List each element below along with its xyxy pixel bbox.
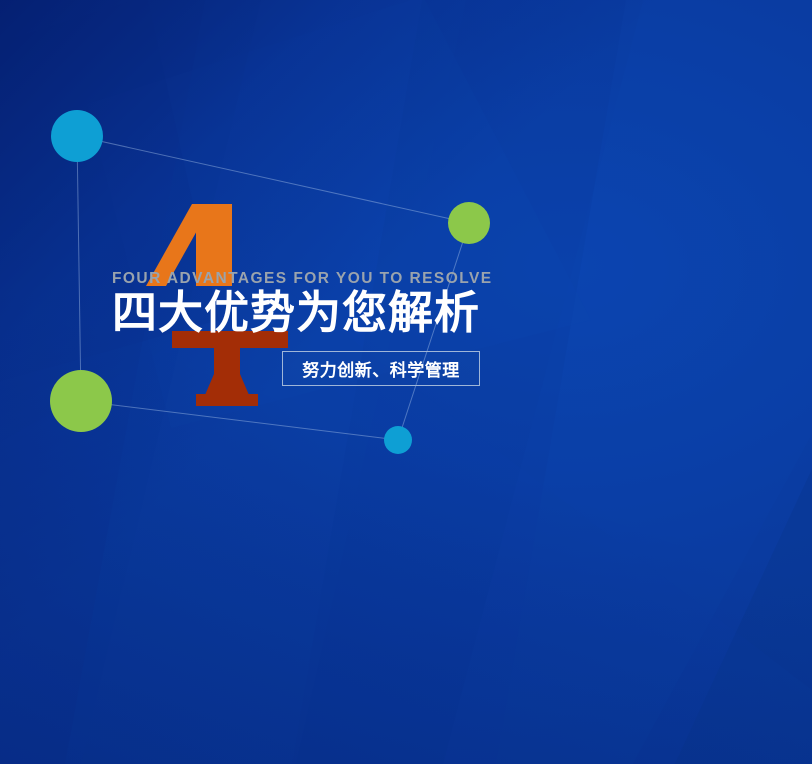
hero-block: FOUR ADVANTAGES FOR YOU TO RESOLVE 四大优势为… — [112, 196, 672, 416]
slogan-button-label: 努力创新、科学管理 — [302, 356, 460, 381]
node-green-large — [50, 370, 112, 432]
banner-canvas: FOUR ADVANTAGES FOR YOU TO RESOLVE 四大优势为… — [0, 0, 812, 764]
slogan-button[interactable]: 努力创新、科学管理 — [282, 351, 480, 386]
hero-headline: 四大优势为您解析 — [112, 288, 480, 338]
node-cyan-large — [51, 110, 103, 162]
node-cyan-small — [384, 426, 412, 454]
edge-cyan-to-green-large — [77, 136, 81, 401]
